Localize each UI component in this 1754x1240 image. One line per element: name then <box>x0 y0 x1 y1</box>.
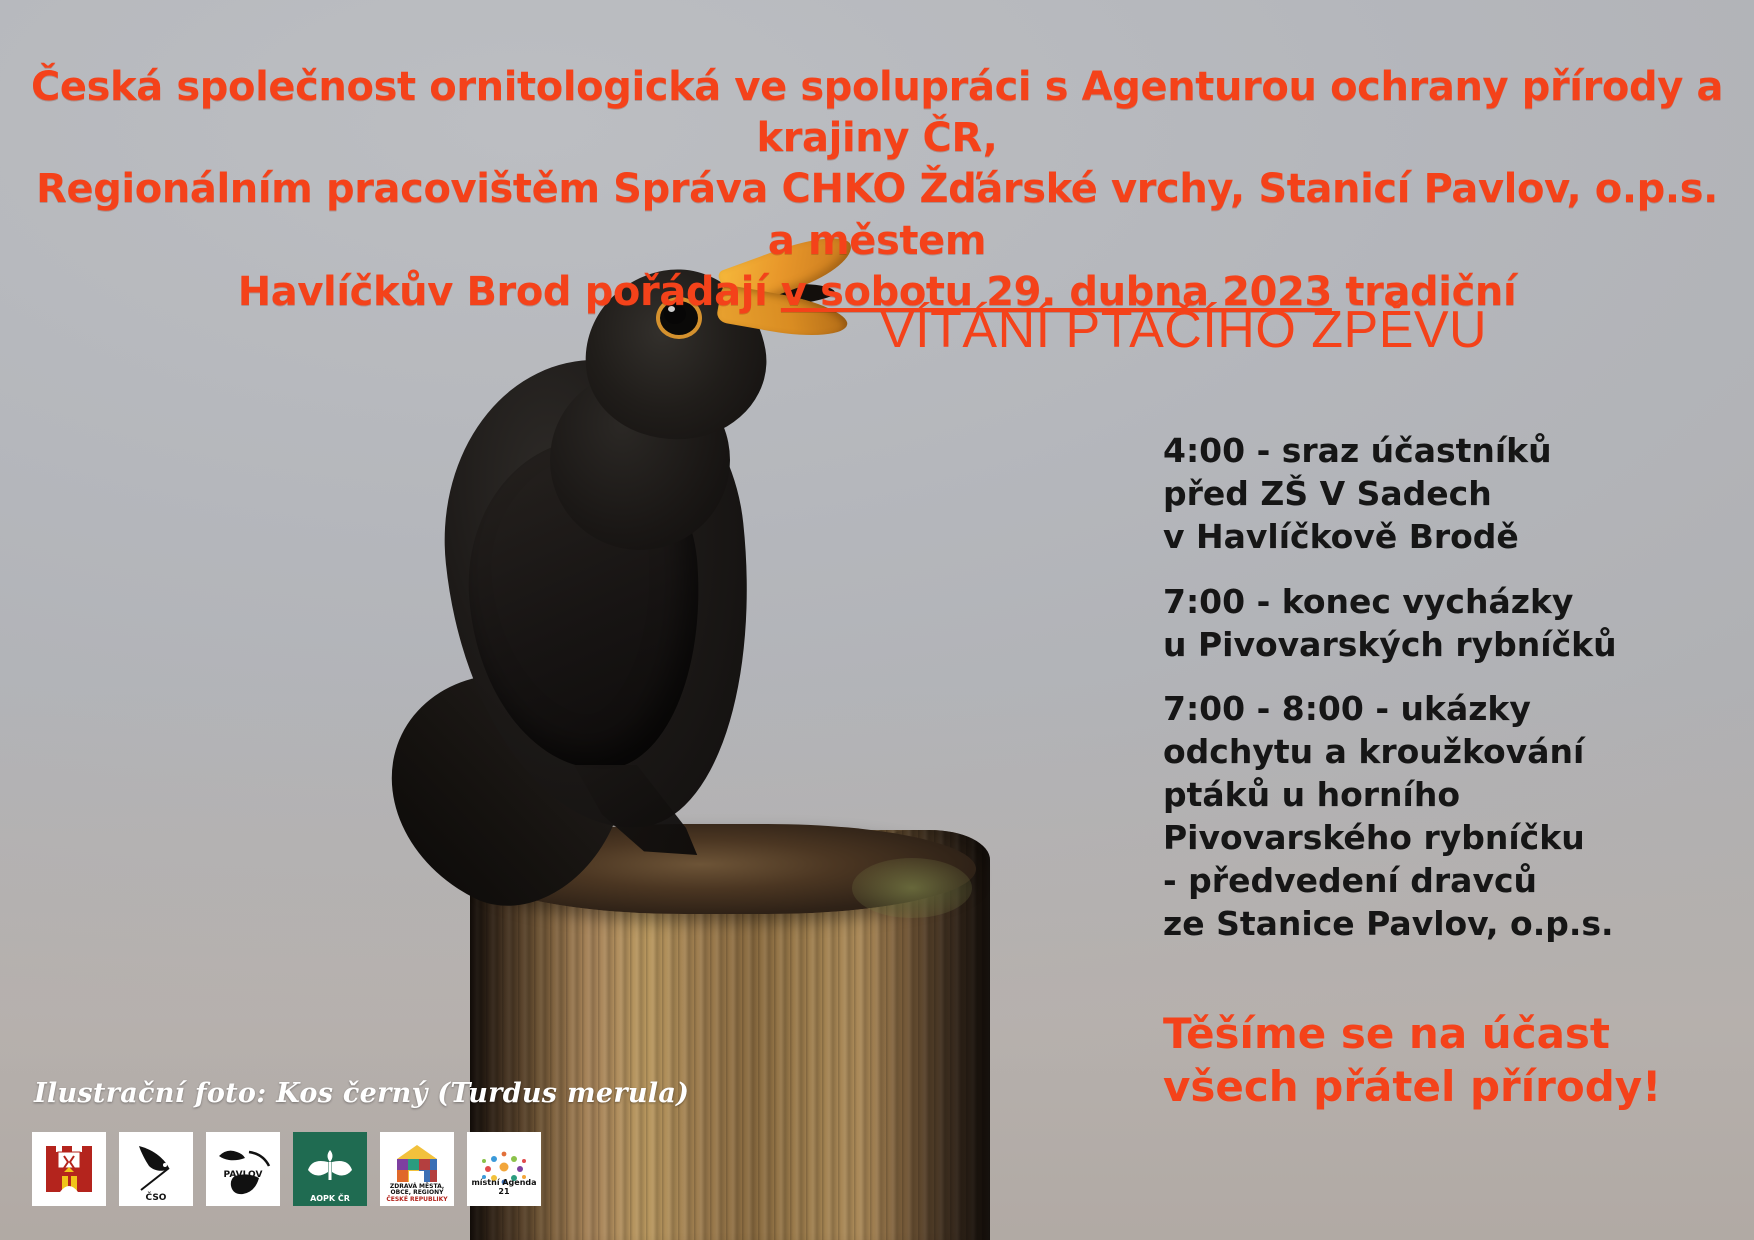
havlickuv-brod-coat-of-arms-icon <box>32 1132 106 1206</box>
aopk-cr-logo-icon: AOPK ČR <box>293 1132 367 1206</box>
schedule-line: u Pivovarských rybníčků <box>1163 624 1683 667</box>
schedule-line: Pivovarského rybníčku <box>1163 817 1683 860</box>
schedule-list: 4:00 - sraz účastníků před ZŠ V Sadech v… <box>1163 430 1683 968</box>
schedule-line: v Havlíčkově Brodě <box>1163 516 1683 559</box>
schedule-line: před ZŠ V Sadech <box>1163 473 1683 516</box>
schedule-line: 7:00 - konec vycházky <box>1163 581 1683 624</box>
closing-invitation: Těšíme se na účast všech přátel přírody! <box>1163 1008 1723 1113</box>
cso-logo-label: ČSO <box>119 1193 193 1203</box>
zdrava-mesta-logo-icon: ZDRAVÁ MĚSTA, OBCE, REGIONYČESKÉ REPUBLI… <box>380 1132 454 1206</box>
closing-line-1: Těšíme se na účast <box>1163 1008 1723 1061</box>
organizer-headline: Česká společnost ornitologická ve spolup… <box>0 62 1754 318</box>
schedule-line: ze Stanice Pavlov, o.p.s. <box>1163 903 1683 946</box>
closing-line-2: všech přátel přírody! <box>1163 1061 1723 1114</box>
schedule-block: 7:00 - 8:00 - ukázky odchytu a kroužková… <box>1163 688 1683 945</box>
stanice-pavlov-logo-label: PAVLOV <box>206 1170 280 1180</box>
schedule-line: 4:00 - sraz účastníků <box>1163 430 1683 473</box>
headline-line-1: Česká společnost ornitologická ve spolup… <box>26 62 1728 164</box>
headline-line-3-before: Havlíčkův Brod pořádají <box>238 269 781 315</box>
page-title: VÍTÁNÍ PTAČÍHO ZPĚVU <box>880 300 1580 360</box>
schedule-line: ptáků u horního <box>1163 774 1683 817</box>
mistni-agenda-21-logo-label: místní Agenda 21 <box>467 1178 541 1196</box>
schedule-block: 4:00 - sraz účastníků před ZŠ V Sadech v… <box>1163 430 1683 559</box>
logo-strip: ČSO PAVLOV AOPK ČR <box>32 1132 541 1206</box>
photo-caption: Ilustrační foto: Kos černý (Turdus merul… <box>34 1078 689 1109</box>
aopk-cr-logo-label: AOPK ČR <box>293 1194 367 1203</box>
blackbird-photo <box>330 240 950 900</box>
poster-canvas: Česká společnost ornitologická ve spolup… <box>0 0 1754 1240</box>
mistni-agenda-21-logo-icon: místní Agenda 21 <box>467 1132 541 1206</box>
zdrava-mesta-logo-label: ZDRAVÁ MĚSTA, OBCE, REGIONYČESKÉ REPUBLI… <box>380 1184 454 1203</box>
stanice-pavlov-logo-icon: PAVLOV <box>206 1132 280 1206</box>
schedule-line: odchytu a kroužkování <box>1163 731 1683 774</box>
headline-line-2: Regionálním pracovištěm Správa CHKO Žďár… <box>26 164 1728 266</box>
schedule-line: 7:00 - 8:00 - ukázky <box>1163 688 1683 731</box>
schedule-block: 7:00 - konec vycházky u Pivovarských ryb… <box>1163 581 1683 667</box>
cso-logo-icon: ČSO <box>119 1132 193 1206</box>
schedule-line: - předvedení dravců <box>1163 860 1683 903</box>
